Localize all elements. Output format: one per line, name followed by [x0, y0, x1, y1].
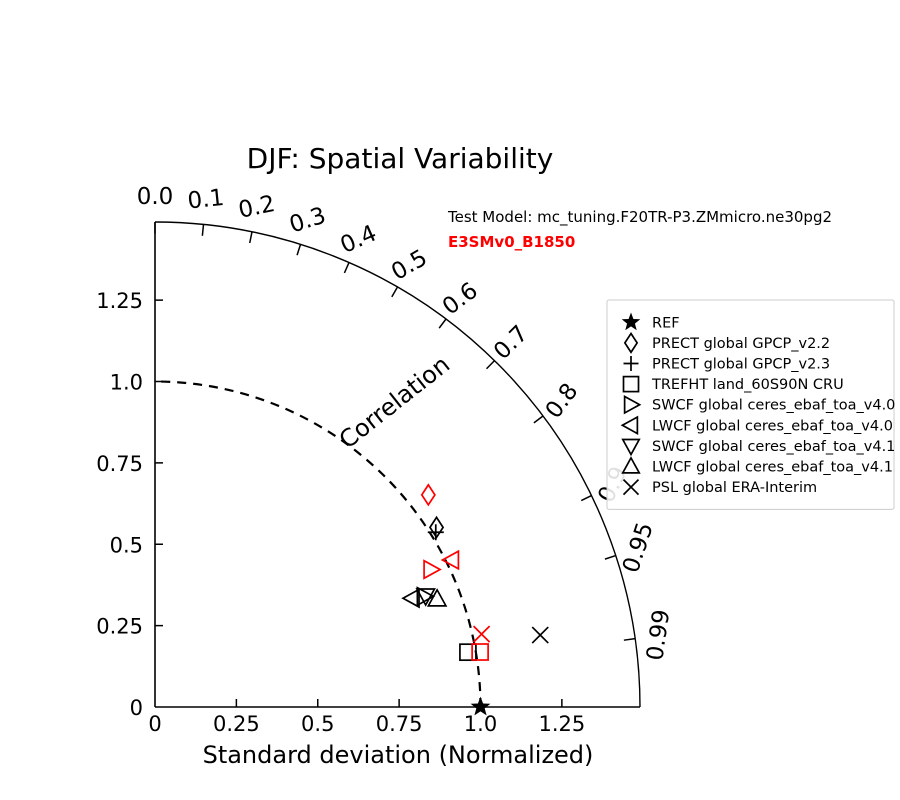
- correlation-tick: [624, 639, 635, 641]
- reference-stddev-arc: [155, 382, 481, 708]
- x-axis-tick-label: 0: [148, 712, 161, 736]
- correlation-tick: [392, 287, 398, 297]
- correlation-axis-title: Correlation: [334, 350, 455, 454]
- y-axis-tick-label: 0.5: [110, 533, 143, 557]
- legend-group[interactable]: REFPRECT global GPCP_v2.2PRECT global GP…: [607, 300, 895, 509]
- correlation-tick-label: 0.6: [438, 278, 483, 321]
- legend-item-label: PSL global ERA-Interim: [652, 480, 817, 496]
- legend-item[interactable]: SWCF global ceres_ebaf_toa_v4.1: [623, 439, 896, 455]
- correlation-labels-group: 0.00.10.20.30.40.50.60.70.80.90.950.99Co…: [137, 184, 676, 662]
- legend-item[interactable]: PSL global ERA-Interim: [624, 480, 818, 497]
- y-axis-tick-label: 0.75: [96, 452, 143, 476]
- legend-item-label: TREFHT land_60S90N CRU: [651, 377, 844, 393]
- y-axis-tick-label: 0.25: [96, 615, 143, 639]
- correlation-tick-label: 0.4: [337, 220, 381, 258]
- x-axis-tick-label: 1.25: [538, 712, 585, 736]
- plot-frame-group: [155, 222, 640, 707]
- data-point-marker: [424, 561, 440, 579]
- correlation-tick: [605, 556, 616, 560]
- legend-item[interactable]: TREFHT land_60S90N CRU: [624, 377, 844, 394]
- correlation-tick: [250, 232, 252, 243]
- correlation-tick: [487, 361, 495, 369]
- correlation-tick: [581, 496, 591, 501]
- page-title: DJF: Spatial Variability: [247, 142, 554, 175]
- y-axis-tick-label: 1.0: [110, 371, 143, 395]
- correlation-tick: [297, 244, 300, 255]
- taylor-diagram-figure: 00.250.50.751.01.2500.250.50.751.01.25 0…: [0, 0, 900, 800]
- correlation-tick-label: 0.5: [387, 245, 432, 286]
- reference-model-annotation: E3SMv0_B1850: [448, 233, 575, 251]
- x-axis-tick-label: 0.75: [376, 712, 423, 736]
- legend-item-label: LWCF global ceres_ebaf_toa_v4.1: [652, 460, 893, 476]
- outer-boundary-arc: [155, 222, 640, 707]
- correlation-tick-label: 0.95: [618, 519, 659, 576]
- test-model-annotation: Test Model: mc_tuning.F20TR-P3.ZMmicro.n…: [447, 208, 832, 227]
- x-axis-tick-label: 0.25: [213, 712, 260, 736]
- legend-item-label: REF: [652, 315, 680, 331]
- legend-item-label: LWCF global ceres_ebaf_toa_v4.0: [652, 418, 893, 434]
- correlation-tick: [439, 319, 446, 328]
- legend-item-label: SWCF global ceres_ebaf_toa_v4.1: [652, 439, 895, 455]
- legend-item-label: PRECT global GPCP_v2.2: [652, 336, 830, 352]
- legend-item[interactable]: PRECT global GPCP_v2.2: [625, 334, 830, 353]
- correlation-tick-label: 0.3: [286, 203, 329, 239]
- x-axis-tick-label: 0.5: [301, 712, 334, 736]
- x-axis-title: Standard deviation (Normalized): [203, 741, 594, 769]
- taylor-diagram-canvas: 00.250.50.751.01.2500.250.50.751.01.25 0…: [0, 0, 900, 800]
- data-markers-group: [403, 485, 548, 716]
- legend-item[interactable]: SWCF global ceres_ebaf_toa_v4.0: [625, 396, 896, 413]
- data-point-marker: [460, 644, 476, 660]
- correlation-tick-label: 0.7: [489, 321, 533, 365]
- data-point-marker: [532, 627, 548, 643]
- y-axis-tick-label: 0: [130, 696, 143, 720]
- y-axis-tick-label: 1.25: [96, 289, 143, 313]
- ticks-group: [155, 222, 635, 707]
- correlation-tick-label: 0.8: [541, 379, 584, 424]
- data-point-marker: [422, 485, 435, 505]
- arcs-group: [155, 222, 640, 707]
- legend-item[interactable]: LWCF global ceres_ebaf_toa_v4.1: [623, 458, 893, 476]
- data-point-marker: [474, 626, 490, 642]
- legend-item-label: SWCF global ceres_ebaf_toa_v4.0: [652, 398, 895, 414]
- correlation-tick-label: 0.1: [186, 185, 225, 215]
- legend-item[interactable]: LWCF global ceres_ebaf_toa_v4.0: [622, 417, 893, 434]
- correlation-tick-label: 0.2: [236, 191, 277, 224]
- data-point-marker: [472, 644, 488, 660]
- correlation-tick: [344, 262, 349, 272]
- legend-item[interactable]: PRECT global GPCP_v2.3: [624, 356, 831, 373]
- legend-item-label: PRECT global GPCP_v2.3: [652, 357, 830, 373]
- x-axis-tick-label: 1.0: [464, 712, 497, 736]
- correlation-tick: [534, 416, 543, 423]
- correlation-tick: [202, 224, 203, 235]
- correlation-tick-label: 0.99: [642, 608, 675, 662]
- correlation-tick-label: 0.0: [137, 184, 174, 210]
